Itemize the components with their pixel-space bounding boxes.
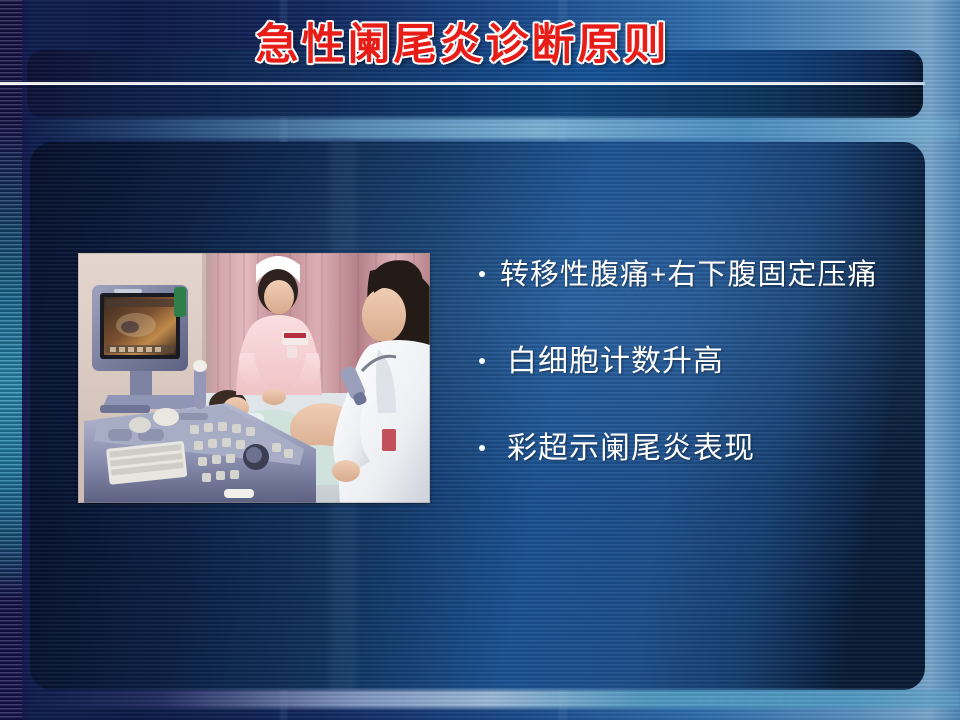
bullet-marker-icon <box>470 342 500 382</box>
bullet-text-3: 彩超示阑尾炎表现 <box>500 429 755 469</box>
footer-glow-band <box>22 690 960 708</box>
bullet-1-plus-sign: + <box>650 259 668 291</box>
page-title: 急性阑尾炎诊断原则 <box>0 21 925 70</box>
left-stripe-texture <box>0 0 22 720</box>
left-accent-stripe <box>0 0 22 720</box>
ultrasound-exam-photo <box>78 253 430 503</box>
ultrasound-exam-illustration <box>78 253 430 503</box>
slide-canvas: 急性阑尾炎诊断原则 <box>0 0 960 720</box>
header-glow-band <box>22 118 960 140</box>
list-item: 白细胞计数升高 <box>470 342 930 382</box>
bullet-text-2: 白细胞计数升高 <box>500 342 724 382</box>
bullet-1-part-a: 转移性腹痛 <box>500 259 650 291</box>
bullet-1-part-b: 右下腹固定压痛 <box>668 259 878 291</box>
list-item: 转移性腹痛+右下腹固定压痛 <box>470 255 930 295</box>
bullet-marker-icon <box>470 429 500 469</box>
list-item: 彩超示阑尾炎表现 <box>470 429 930 469</box>
header-bar-lower <box>27 85 923 118</box>
bullet-list: 转移性腹痛+右下腹固定压痛 白细胞计数升高 彩超示阑尾炎表现 <box>470 255 930 516</box>
bullet-marker-icon <box>470 255 500 295</box>
bullet-text-1: 转移性腹痛+右下腹固定压痛 <box>500 255 878 295</box>
